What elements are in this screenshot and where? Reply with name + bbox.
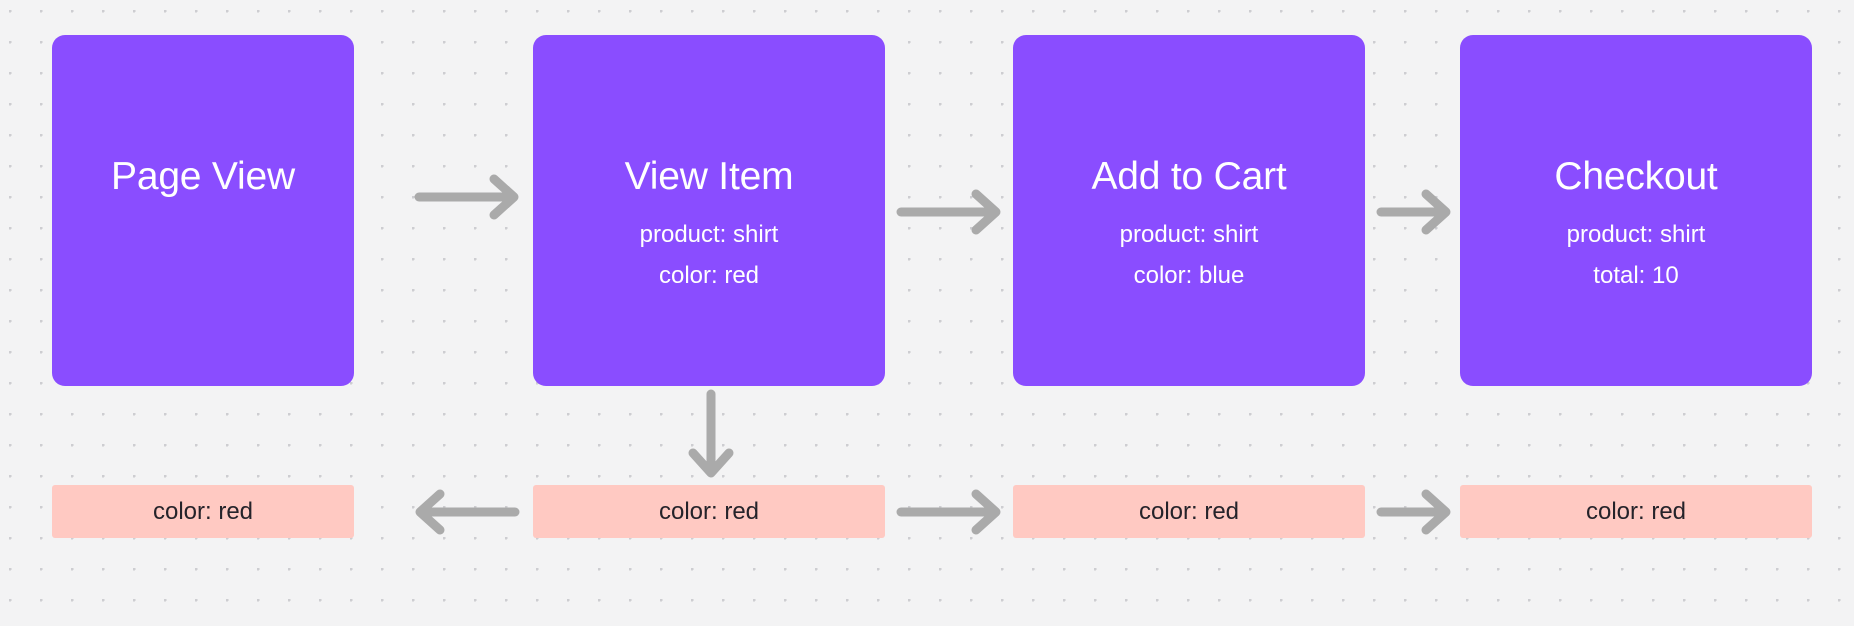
property-box-page-view[interactable]: color: red	[52, 485, 354, 538]
event-node-checkout[interactable]: Checkout product: shirt total: 10	[1460, 35, 1812, 386]
arrow-right-icon-prop-add-to-cart-to-prop-checkout	[1378, 490, 1454, 534]
diagram-canvas: Page View View Item product: shirt color…	[0, 0, 1854, 626]
event-node-detail: product: shirt	[1120, 223, 1259, 247]
event-node-add-to-cart[interactable]: Add to Cart product: shirt color: blue	[1013, 35, 1365, 386]
property-box-add-to-cart[interactable]: color: red	[1013, 485, 1365, 538]
arrow-right-icon-view-item-to-add-to-cart	[898, 190, 1004, 234]
event-node-detail: color: blue	[1134, 264, 1245, 288]
property-box-checkout[interactable]: color: red	[1460, 485, 1812, 538]
property-box-label: color: red	[1586, 500, 1686, 524]
event-node-detail: product: shirt	[1567, 223, 1706, 247]
arrow-right-icon-page-view-to-view-item	[416, 175, 522, 219]
event-node-title: Checkout	[1554, 153, 1717, 201]
arrow-right-icon-add-to-cart-to-checkout	[1378, 190, 1454, 234]
arrow-left-icon-prop-view-item-to-prop-page-view	[412, 490, 518, 534]
property-box-label: color: red	[1139, 500, 1239, 524]
arrow-right-icon-prop-view-item-to-prop-add-to-cart	[898, 490, 1004, 534]
property-box-view-item[interactable]: color: red	[533, 485, 885, 538]
arrow-down-icon-view-item-to-property	[689, 391, 733, 481]
event-node-title: Add to Cart	[1091, 153, 1286, 201]
event-node-title: Page View	[111, 153, 295, 201]
event-node-page-view[interactable]: Page View	[52, 35, 354, 386]
property-box-label: color: red	[153, 500, 253, 524]
property-box-label: color: red	[659, 500, 759, 524]
event-node-title: View Item	[625, 153, 794, 201]
event-node-view-item[interactable]: View Item product: shirt color: red	[533, 35, 885, 386]
event-node-detail: total: 10	[1593, 264, 1678, 288]
event-node-detail: product: shirt	[640, 223, 779, 247]
event-node-detail: color: red	[659, 264, 759, 288]
